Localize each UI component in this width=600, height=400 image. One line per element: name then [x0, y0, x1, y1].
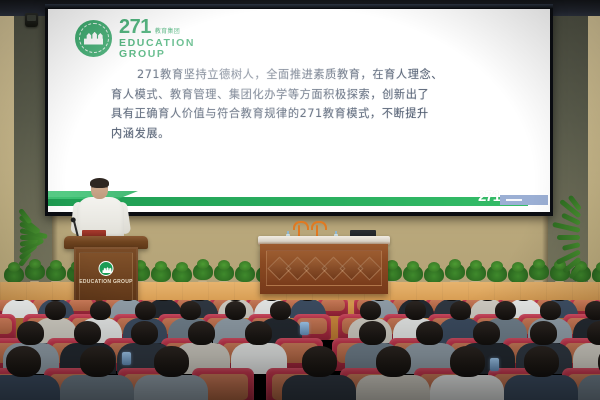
podium-front-panel: EDUCATION GROUP — [79, 252, 133, 305]
audience-head — [188, 321, 215, 345]
potted-plant — [193, 263, 213, 280]
potted-plant — [529, 263, 549, 280]
slide-text-line-4: 内涵发展。 — [111, 124, 521, 144]
audience-head — [360, 301, 381, 320]
audience-phone-screen — [490, 358, 499, 371]
palm-plant-right — [558, 196, 598, 274]
audience-head — [376, 346, 411, 377]
audience-head — [135, 301, 156, 320]
footer-blue-block — [500, 195, 548, 205]
slide-text-line-3: 具有正确育人价值与符合教育规律的271教育模式，不断提升 — [111, 104, 521, 124]
slide-logo: 271 教育集团 EDUCATION GROUP — [75, 17, 195, 59]
audience-head — [585, 301, 600, 320]
potted-plant — [172, 266, 192, 283]
podium-seal-icon — [99, 261, 114, 276]
wall-speaker-icon — [25, 13, 38, 27]
audience-head — [180, 301, 201, 320]
podium-group: EDUCATION GROUP — [58, 176, 154, 312]
footer-271-mark: 271 — [478, 188, 500, 205]
logo-number: 271 — [119, 17, 151, 37]
mountain-seal-icon — [75, 20, 112, 57]
audience-head — [530, 321, 557, 345]
audience-head — [245, 321, 272, 345]
slide-text-line-1: 271教育坚持立德树人，全面推进素质教育，在育人理念、 — [111, 65, 521, 85]
audience-shoulders — [0, 375, 60, 400]
potted-plant — [466, 264, 486, 281]
audience-shoulders — [356, 375, 430, 400]
audience-head — [405, 301, 426, 320]
logo-line-education: EDUCATION — [119, 38, 195, 49]
potted-plant — [508, 266, 528, 283]
logo-line-group: GROUP — [119, 49, 195, 60]
potted-plant — [487, 265, 507, 282]
podium-logo-label: EDUCATION GROUP — [79, 279, 133, 285]
audience-seat — [0, 314, 16, 340]
head-table-body — [260, 244, 388, 294]
potted-plant — [151, 265, 171, 282]
audience-shoulders — [134, 375, 208, 400]
audience-head — [473, 321, 500, 345]
audience-head — [540, 301, 561, 320]
slide-text-line-2: 育人模式、教育管理、集团化办学等方面积极探索，创新出了 — [111, 85, 521, 105]
head-table-panel — [266, 250, 382, 286]
audience-head — [45, 301, 66, 320]
audience-shoulders — [60, 375, 134, 400]
potted-plant — [403, 265, 423, 282]
audience-shoulders — [282, 375, 356, 400]
potted-plant — [424, 266, 444, 283]
potted-plant — [214, 264, 234, 281]
audience-head — [359, 321, 386, 345]
audience-head — [80, 346, 115, 377]
audience-shoulders — [504, 375, 578, 400]
slide-body-text: 271教育坚持立德树人，全面推进素质教育，在育人理念、 育人模式、教育管理、集团… — [111, 65, 521, 143]
logo-chinese-suffix: 教育集团 — [155, 29, 180, 37]
audience-head — [302, 346, 337, 377]
audience-head — [154, 346, 189, 377]
audience-phone-screen — [122, 352, 131, 365]
audience-head — [90, 301, 111, 320]
conference-photo-scene: 271 教育集团 EDUCATION GROUP 271教育坚持立德树人，全面推… — [0, 0, 600, 400]
audience-head — [587, 321, 600, 345]
audience-phone-screen — [300, 322, 309, 335]
palm-plant-left — [2, 196, 42, 274]
potted-plant — [445, 263, 465, 280]
audience-shoulders — [430, 375, 504, 400]
audience-head — [524, 346, 559, 377]
audience-head — [17, 321, 44, 345]
speaker-hair — [90, 178, 109, 188]
audience-area — [0, 300, 600, 400]
audience-head — [450, 346, 485, 377]
diamond-pattern — [270, 254, 378, 282]
audience-head — [416, 321, 443, 345]
potted-plant — [235, 265, 255, 282]
audience-head — [6, 346, 41, 377]
audience-head — [270, 301, 291, 320]
audience-head — [495, 301, 516, 320]
audience-head — [74, 321, 101, 345]
head-table-group — [258, 222, 390, 294]
audience-head — [225, 301, 246, 320]
audience-head — [131, 321, 158, 345]
audience-head — [450, 301, 471, 320]
